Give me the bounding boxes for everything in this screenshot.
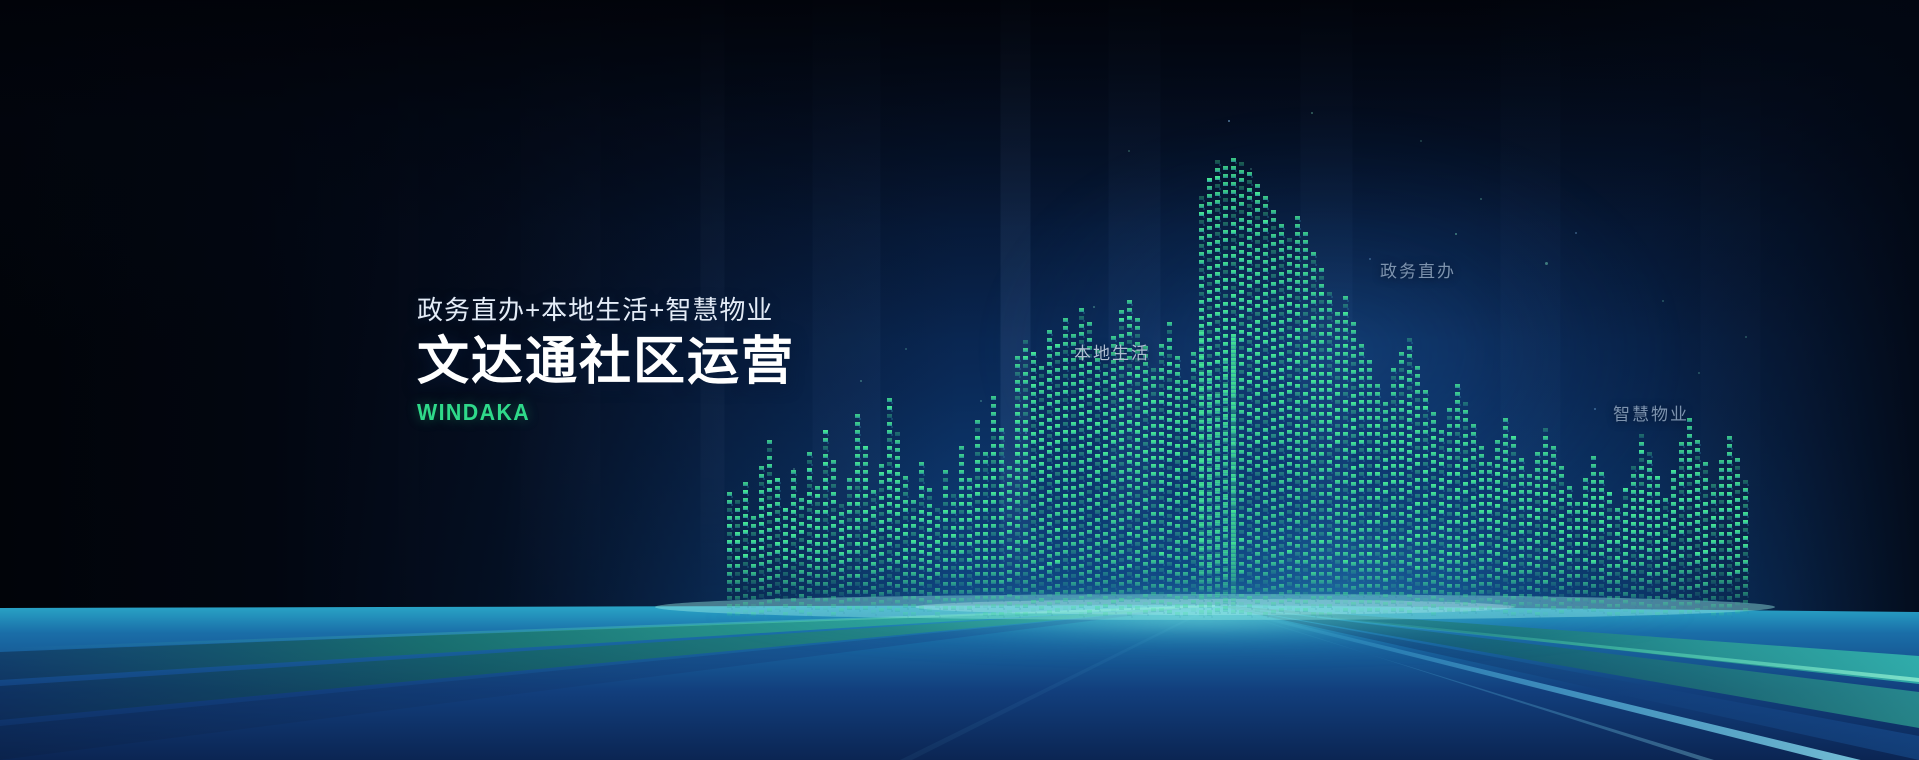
particle-dot	[860, 380, 862, 382]
particle-dot	[980, 400, 982, 402]
brand-wordmark: WINDAKA	[417, 399, 769, 426]
particle-dot	[1025, 432, 1027, 434]
district-label-1: 政务直办	[1380, 257, 1456, 282]
district-label-3: 智慧物业	[1613, 400, 1689, 425]
particle-dot	[1311, 112, 1313, 114]
particle-dot	[1369, 258, 1371, 260]
particle-dot	[1698, 372, 1700, 374]
headline-block: 政务直办+本地生活+智慧物业 文达通社区运营 WINDAKA	[417, 296, 795, 426]
dot-matrix-skyline	[0, 0, 1919, 640]
particle-dot	[1093, 306, 1095, 308]
particle-dot	[1575, 232, 1577, 234]
particle-dot	[1745, 336, 1747, 338]
particle-dot	[1420, 140, 1422, 142]
particle-dot	[1128, 150, 1130, 152]
particle-dot	[1455, 233, 1457, 235]
particle-dot	[793, 468, 795, 470]
hero-banner: 政务直办本地生活智慧物业 政务直办+本地生活+智慧物业 文达通社区运营 WIND…	[0, 0, 1919, 760]
district-label-2: 本地生活	[1074, 339, 1150, 364]
banner-headline: 文达通社区运营	[417, 335, 795, 390]
particle-dot	[1662, 300, 1664, 302]
particle-dot	[1480, 198, 1482, 200]
particle-dot	[1250, 168, 1252, 170]
particle-dot	[1228, 120, 1230, 122]
particle-dot	[1545, 262, 1548, 265]
particle-dot	[1594, 408, 1596, 410]
banner-subtitle: 政务直办+本地生活+智慧物业	[417, 296, 795, 326]
particle-dot	[905, 348, 907, 350]
